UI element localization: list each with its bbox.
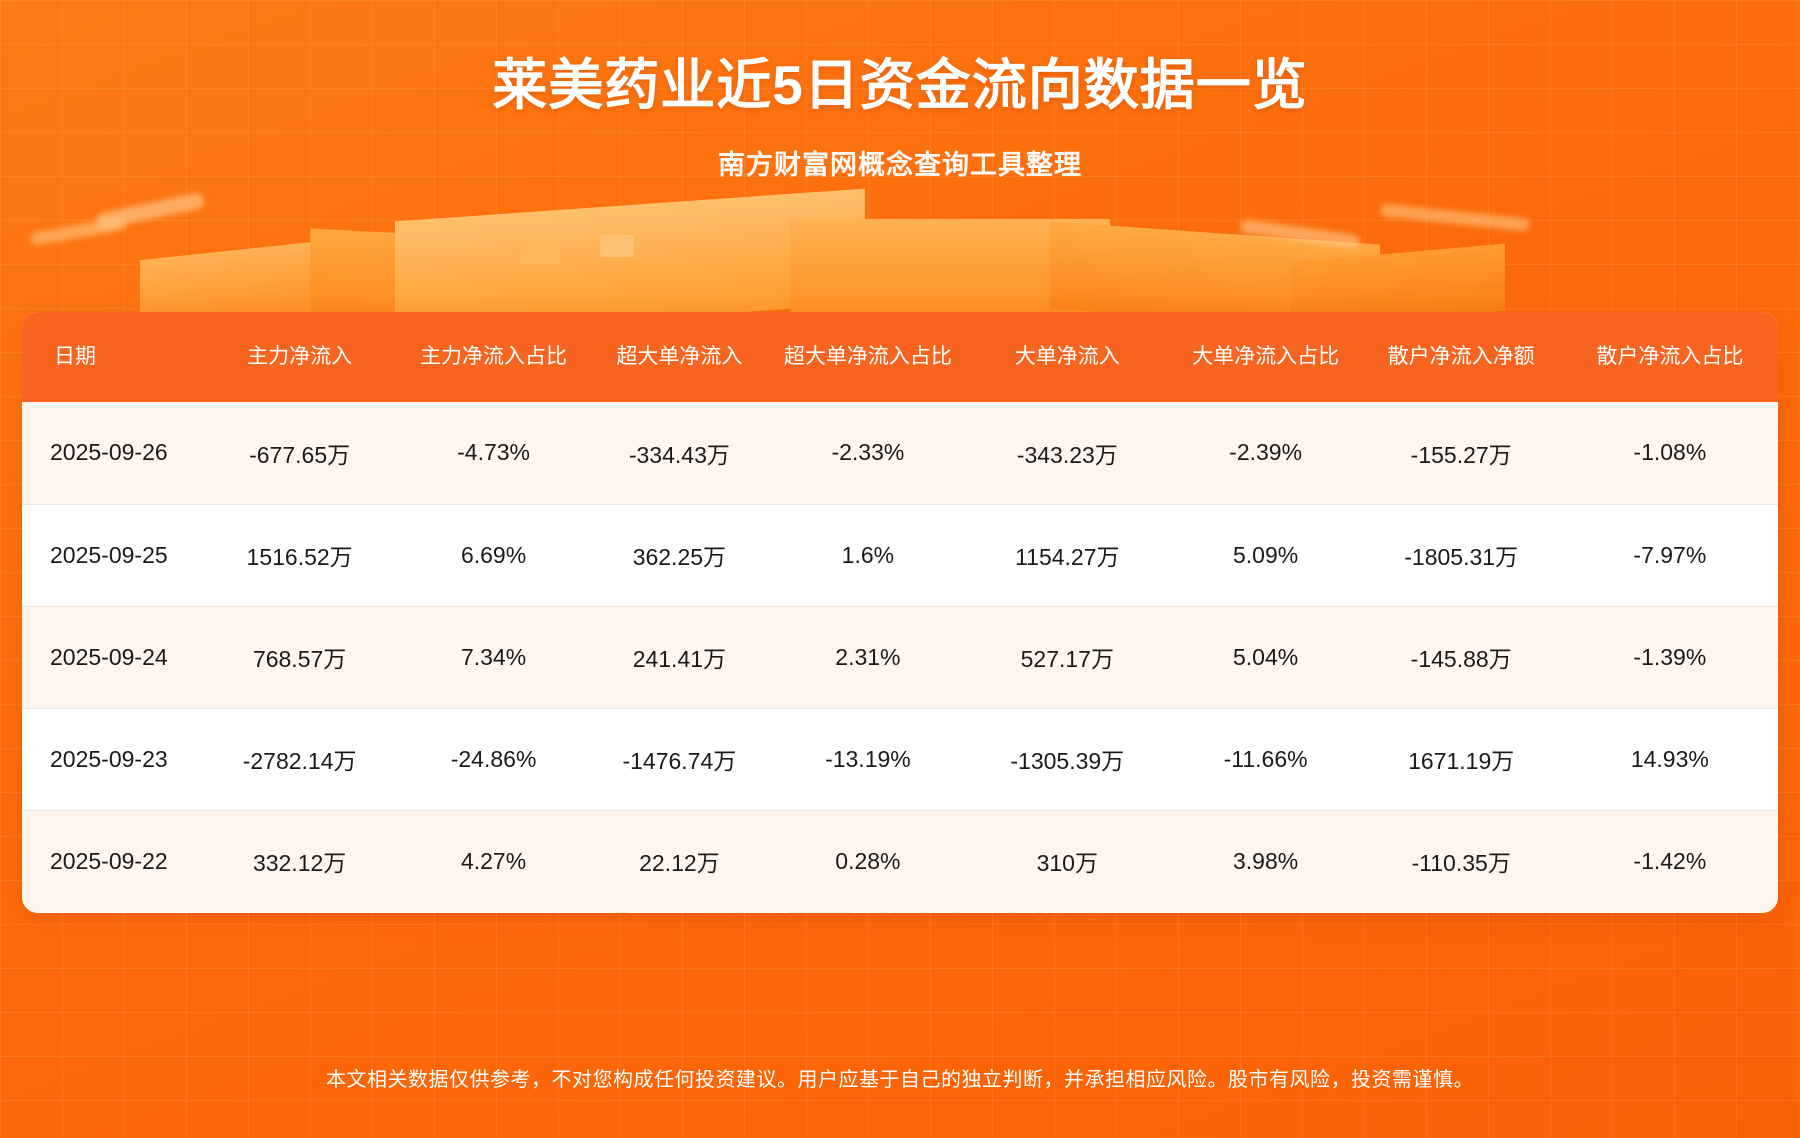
cell-date: 2025-09-22 <box>22 810 199 912</box>
light-streak-1 <box>95 192 206 231</box>
cell-lg-net: 310万 <box>964 810 1170 912</box>
cell-lg-pct: -11.66% <box>1171 708 1361 810</box>
cell-main-pct: -4.73% <box>400 402 587 504</box>
cell-main-net: 332.12万 <box>199 810 400 912</box>
page-subtitle: 南方财富网概念查询工具整理 <box>0 143 1800 182</box>
table-row: 2025-09-22 332.12万 4.27% 22.12万 0.28% 31… <box>22 810 1778 912</box>
cell-main-net: 768.57万 <box>199 606 400 708</box>
page-title: 莱美药业近5日资金流向数据一览 <box>0 40 1800 120</box>
cell-xl-pct: 1.6% <box>772 504 964 606</box>
cell-xl-pct: -13.19% <box>772 708 964 810</box>
column-header-xl-pct: 超大单净流入占比 <box>772 312 964 402</box>
cell-lg-net: 1154.27万 <box>964 504 1170 606</box>
cell-date: 2025-09-24 <box>22 606 199 708</box>
cell-main-net: -677.65万 <box>199 402 400 504</box>
column-header-lg-net: 大单净流入 <box>964 312 1170 402</box>
poster-root: 莱美药业近5日资金流向数据一览 南方财富网概念查询工具整理 南方财富网 Sout… <box>0 0 1800 1138</box>
table-header-row: 日期 主力净流入 主力净流入占比 超大单净流入 超大单净流入占比 大单净流入 大… <box>22 312 1778 402</box>
cell-xl-net: 362.25万 <box>587 504 772 606</box>
cell-date: 2025-09-23 <box>22 708 199 810</box>
cell-retail-pct: -1.39% <box>1562 606 1778 708</box>
column-header-retail-pct: 散户净流入占比 <box>1562 312 1778 402</box>
podium-block-e <box>1050 221 1380 320</box>
cell-retail-pct: -1.42% <box>1562 810 1778 912</box>
cell-lg-net: -1305.39万 <box>964 708 1170 810</box>
decorative-podium <box>0 185 1800 320</box>
podium-block-a <box>140 234 390 320</box>
cell-date: 2025-09-26 <box>22 402 199 504</box>
column-header-main-net: 主力净流入 <box>199 312 400 402</box>
cell-main-pct: -24.86% <box>400 708 587 810</box>
cell-retail-net: -155.27万 <box>1361 402 1562 504</box>
cell-main-net: -2782.14万 <box>199 708 400 810</box>
table-row: 2025-09-26 -677.65万 -4.73% -334.43万 -2.3… <box>22 402 1778 504</box>
podium-block-c <box>395 189 865 320</box>
cell-lg-net: -343.23万 <box>964 402 1170 504</box>
podium-block-h <box>600 235 634 257</box>
cell-retail-net: -145.88万 <box>1361 606 1562 708</box>
cell-retail-net: 1671.19万 <box>1361 708 1562 810</box>
column-header-retail-net: 散户净流入净额 <box>1361 312 1562 402</box>
cell-xl-net: 22.12万 <box>587 810 772 912</box>
cell-lg-pct: 5.04% <box>1171 606 1361 708</box>
light-streak-3 <box>1240 219 1361 250</box>
cell-retail-net: -1805.31万 <box>1361 504 1562 606</box>
cell-main-net: 1516.52万 <box>199 504 400 606</box>
podium-block-g <box>520 240 560 264</box>
cell-xl-net: -334.43万 <box>587 402 772 504</box>
disclaimer-text: 本文相关数据仅供参考，不对您构成任何投资建议。用户应基于自己的独立判断，并承担相… <box>0 1063 1800 1092</box>
cell-lg-pct: 5.09% <box>1171 504 1361 606</box>
cell-xl-pct: 2.31% <box>772 606 964 708</box>
column-header-lg-pct: 大单净流入占比 <box>1171 312 1361 402</box>
podium-block-b <box>310 228 560 320</box>
cell-retail-pct: -1.08% <box>1562 402 1778 504</box>
cell-lg-pct: 3.98% <box>1171 810 1361 912</box>
table-row: 2025-09-24 768.57万 7.34% 241.41万 2.31% 5… <box>22 606 1778 708</box>
cell-main-pct: 4.27% <box>400 810 587 912</box>
cell-main-pct: 7.34% <box>400 606 587 708</box>
table-row: 2025-09-23 -2782.14万 -24.86% -1476.74万 -… <box>22 708 1778 810</box>
podium-block-f <box>1290 244 1505 320</box>
light-streak-4 <box>1380 203 1531 232</box>
cell-xl-net: 241.41万 <box>587 606 772 708</box>
cell-retail-pct: -7.97% <box>1562 504 1778 606</box>
table-row: 2025-09-25 1516.52万 6.69% 362.25万 1.6% 1… <box>22 504 1778 606</box>
column-header-xl-net: 超大单净流入 <box>587 312 772 402</box>
column-header-main-pct: 主力净流入占比 <box>400 312 587 402</box>
fund-flow-table: 日期 主力净流入 主力净流入占比 超大单净流入 超大单净流入占比 大单净流入 大… <box>22 312 1778 912</box>
light-streak-2 <box>30 217 126 246</box>
cell-retail-pct: 14.93% <box>1562 708 1778 810</box>
data-card: 南方财富网 Southmoney.com 日期 主力净流入 主力净流入占比 超大… <box>22 312 1778 913</box>
podium-block-d <box>790 219 1110 320</box>
column-header-date: 日期 <box>22 312 199 402</box>
table-header: 日期 主力净流入 主力净流入占比 超大单净流入 超大单净流入占比 大单净流入 大… <box>22 312 1778 402</box>
cell-main-pct: 6.69% <box>400 504 587 606</box>
cell-xl-net: -1476.74万 <box>587 708 772 810</box>
table-body: 2025-09-26 -677.65万 -4.73% -334.43万 -2.3… <box>22 402 1778 912</box>
cell-xl-pct: -2.33% <box>772 402 964 504</box>
cell-xl-pct: 0.28% <box>772 810 964 912</box>
cell-lg-pct: -2.39% <box>1171 402 1361 504</box>
cell-lg-net: 527.17万 <box>964 606 1170 708</box>
cell-date: 2025-09-25 <box>22 504 199 606</box>
cell-retail-net: -110.35万 <box>1361 810 1562 912</box>
